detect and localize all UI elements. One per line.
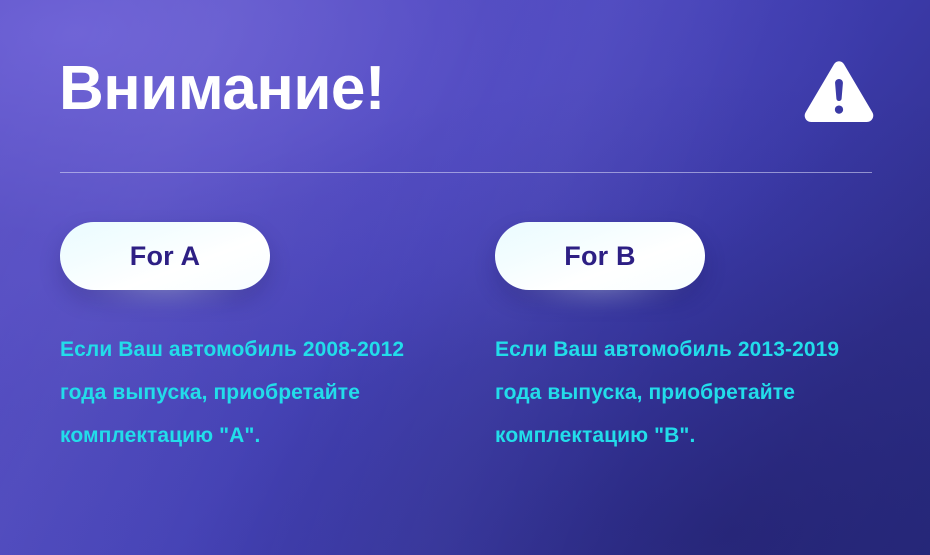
attention-banner: Внимание! For A Если Ваш автомобиль 2008… bbox=[0, 0, 930, 555]
for-b-button[interactable]: For B bbox=[495, 222, 705, 290]
warning-triangle-icon bbox=[803, 60, 875, 126]
option-a-description: Если Ваш автомобиль 2008-2012 года выпус… bbox=[60, 290, 445, 457]
option-b-description: Если Ваш автомобиль 2013-2019 года выпус… bbox=[495, 290, 880, 457]
header-divider bbox=[60, 172, 872, 173]
banner-content: Внимание! For A Если Ваш автомобиль 2008… bbox=[0, 0, 930, 555]
option-column-b: For B Если Ваш автомобиль 2013-2019 года… bbox=[495, 218, 895, 457]
option-column-a: For A Если Ваш автомобиль 2008-2012 года… bbox=[60, 218, 460, 457]
for-b-button-wrap: For B bbox=[495, 218, 705, 290]
for-a-button-label: For A bbox=[130, 243, 201, 270]
for-a-button[interactable]: For A bbox=[60, 222, 270, 290]
for-a-button-wrap: For A bbox=[60, 218, 270, 290]
for-b-button-label: For B bbox=[564, 243, 636, 270]
page-title: Внимание! bbox=[59, 53, 385, 125]
